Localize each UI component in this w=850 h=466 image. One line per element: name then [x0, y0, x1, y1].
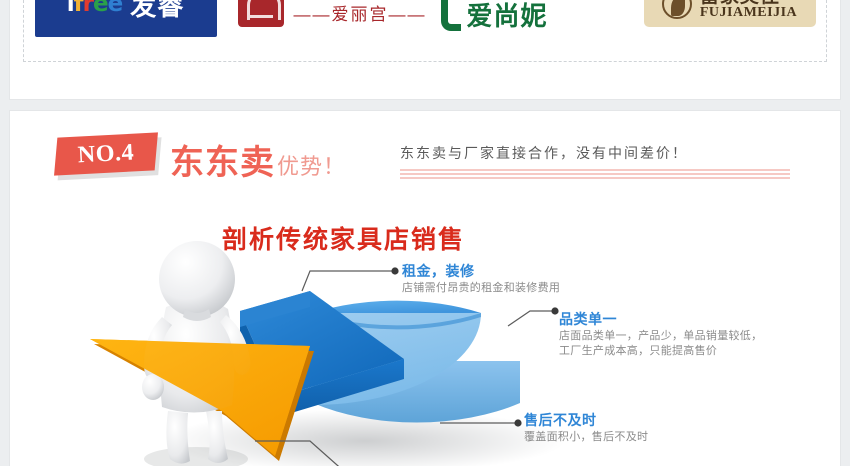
annotation-service-title: 售后不及时 [524, 410, 648, 430]
brand-strip-panel: ifree 发睿 AILIGONG ——爱丽宫—— AISTIN 爱尚妮 [9, 0, 841, 100]
aistin-hook-icon [441, 0, 461, 31]
brand-strip-dashed-frame: ifree 发睿 AILIGONG ——爱丽宫—— AISTIN 爱尚妮 [23, 0, 827, 62]
aistin-text: AISTIN 爱尚妮 [467, 0, 555, 33]
brand-logo-ifree[interactable]: ifree 发睿 [35, 0, 217, 37]
aligong-text: AILIGONG ——爱丽宫—— [294, 0, 427, 25]
leader-line-category [508, 311, 555, 326]
pie-chart-graphic: 租金，装修 店铺需付昂贵的租金和装修费用 品类单一 店面品类单一，产品少，单品销… [10, 111, 842, 466]
annotation-service: 售后不及时 覆盖面积小，售后不及时 [524, 410, 648, 445]
mannequin-hand-left [142, 374, 164, 400]
annotation-rent-title: 租金，装修 [402, 261, 560, 281]
fujiameijia-emblem-icon [662, 0, 692, 19]
mannequin-head [159, 241, 235, 317]
fujiameijia-en-label: FUJIAMEIJIA [700, 5, 797, 21]
annotation-rent: 租金，装修 店铺需付昂贵的租金和装修费用 [402, 261, 560, 296]
ifree-wordmark: ifree [67, 0, 122, 17]
leader-line-rent [302, 271, 395, 291]
leader-dot-rent [391, 267, 398, 274]
advantage-section-panel: NO.4 东东卖 优势！ 东东卖与厂家直接合作，没有中间差价！ 剖析传统家具店销… [9, 110, 841, 466]
annotation-category: 品类单一 店面品类单一，产品少，单品销量较低， 工厂生产成本高，只能提高售价 [559, 309, 762, 359]
aligong-emblem-icon [238, 0, 284, 27]
aligong-cn-label: ——爱丽宫—— [294, 0, 427, 25]
brand-logo-aistin[interactable]: AISTIN 爱尚妮 [441, 0, 623, 37]
aistin-cn-label: 爱尚妮 [467, 0, 555, 33]
page-root: ifree 发睿 AILIGONG ——爱丽宫—— AISTIN 爱尚妮 [0, 0, 850, 466]
annotation-rent-desc: 店铺需付昂贵的租金和装修费用 [402, 281, 560, 296]
annotation-category-title: 品类单一 [559, 309, 762, 329]
brand-logo-fujiameijia[interactable]: 富家美佳 FUJIAMEIJIA [644, 0, 816, 27]
leader-dot-category [551, 307, 558, 314]
mannequin-leg-left [166, 411, 190, 464]
annotation-service-desc: 覆盖面积小，售后不及时 [524, 430, 648, 445]
leader-dot-service [514, 419, 521, 426]
fujiameijia-text: 富家美佳 FUJIAMEIJIA [700, 0, 797, 21]
annotation-category-desc-line1: 店面品类单一，产品少，单品销量较低， [559, 329, 762, 344]
annotation-category-desc-line2: 工厂生产成本高，只能提高售价 [559, 344, 762, 359]
ifree-cn-label: 发睿 [130, 0, 184, 23]
brand-logo-aligong[interactable]: AILIGONG ——爱丽宫—— [238, 0, 420, 37]
brand-logo-row: ifree 发睿 AILIGONG ——爱丽宫—— AISTIN 爱尚妮 [24, 0, 826, 61]
pie-slice-medium-top [313, 301, 481, 313]
